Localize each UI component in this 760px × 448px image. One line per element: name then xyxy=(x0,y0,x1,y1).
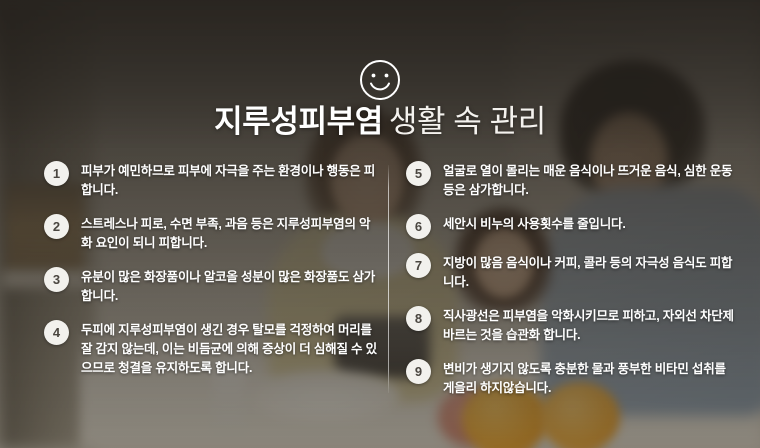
item-number-badge: 5 xyxy=(406,161,431,186)
item-number-badge: 3 xyxy=(44,267,69,292)
list-item: 3 유분이 많은 화장품이나 알코올 성분이 많은 화장품도 삼가합니다. xyxy=(44,266,380,306)
list-item: 6 세안시 비누의 사용횟수를 줄입니다. xyxy=(406,213,740,239)
item-number-badge: 2 xyxy=(44,214,69,239)
item-text: 변비가 생기지 않도록 충분한 물과 풍부한 비타민 섭취를 게을리 하지않습니… xyxy=(443,358,740,398)
item-text: 피부가 예민하므로 피부에 자극을 주는 환경이나 행동은 피합니다. xyxy=(81,160,380,200)
item-text: 얼굴로 열이 몰리는 매운 음식이나 뜨거운 음식, 심한 운동 등은 삼가합니… xyxy=(443,160,740,200)
column-divider xyxy=(388,165,389,393)
item-text: 직사광선은 피부염을 악화시키므로 피하고, 자외선 차단제 바르는 것을 습관… xyxy=(443,305,740,345)
item-number-badge: 7 xyxy=(406,253,431,278)
item-text: 스트레스나 피로, 수면 부족, 과음 등은 지루성피부염의 악화 요인이 되니… xyxy=(81,213,380,253)
item-text: 세안시 비누의 사용횟수를 줄입니다. xyxy=(443,213,740,234)
list-item: 8 직사광선은 피부염을 악화시키므로 피하고, 자외선 차단제 바르는 것을 … xyxy=(406,305,740,345)
item-text: 지방이 많음 음식이나 커피, 콜라 등의 자극성 음식도 피합니다. xyxy=(443,252,740,292)
item-number-badge: 6 xyxy=(406,214,431,239)
item-number-badge: 9 xyxy=(406,359,431,384)
list-item: 5 얼굴로 열이 몰리는 매운 음식이나 뜨거운 음식, 심한 운동 등은 삼가… xyxy=(406,160,740,200)
infographic-poster: 지루성피부염생활 속 관리 1 피부가 예민하므로 피부에 자극을 주는 환경이… xyxy=(0,0,760,448)
tips-column-right: 5 얼굴로 열이 몰리는 매운 음식이나 뜨거운 음식, 심한 운동 등은 삼가… xyxy=(406,160,740,411)
tips-columns: 1 피부가 예민하므로 피부에 자극을 주는 환경이나 행동은 피합니다. 2 … xyxy=(0,160,760,400)
item-number-badge: 1 xyxy=(44,161,69,186)
item-text: 유분이 많은 화장품이나 알코올 성분이 많은 화장품도 삼가합니다. xyxy=(81,266,380,306)
title-keyword: 지루성피부염 xyxy=(214,104,383,139)
page-title: 지루성피부염생활 속 관리 xyxy=(0,103,760,141)
item-number-badge: 4 xyxy=(44,320,69,345)
list-item: 7 지방이 많음 음식이나 커피, 콜라 등의 자극성 음식도 피합니다. xyxy=(406,252,740,292)
list-item: 1 피부가 예민하므로 피부에 자극을 주는 환경이나 행동은 피합니다. xyxy=(44,160,380,200)
item-number-badge: 8 xyxy=(406,306,431,331)
list-item: 9 변비가 생기지 않도록 충분한 물과 풍부한 비타민 섭취를 게을리 하지않… xyxy=(406,358,740,398)
tips-column-left: 1 피부가 예민하므로 피부에 자극을 주는 환경이나 행동은 피합니다. 2 … xyxy=(44,160,380,391)
poster-content: 지루성피부염생활 속 관리 1 피부가 예민하므로 피부에 자극을 주는 환경이… xyxy=(0,0,760,448)
list-item: 2 스트레스나 피로, 수면 부족, 과음 등은 지루성피부염의 악화 요인이 … xyxy=(44,213,380,253)
title-subject: 생활 속 관리 xyxy=(389,104,546,139)
smiley-face-icon xyxy=(358,58,402,102)
list-item: 4 두피에 지루성피부염이 생긴 경우 탈모를 걱정하여 머리를 잘 감지 않는… xyxy=(44,319,380,378)
item-text: 두피에 지루성피부염이 생긴 경우 탈모를 걱정하여 머리를 잘 감지 않는데,… xyxy=(81,319,380,378)
